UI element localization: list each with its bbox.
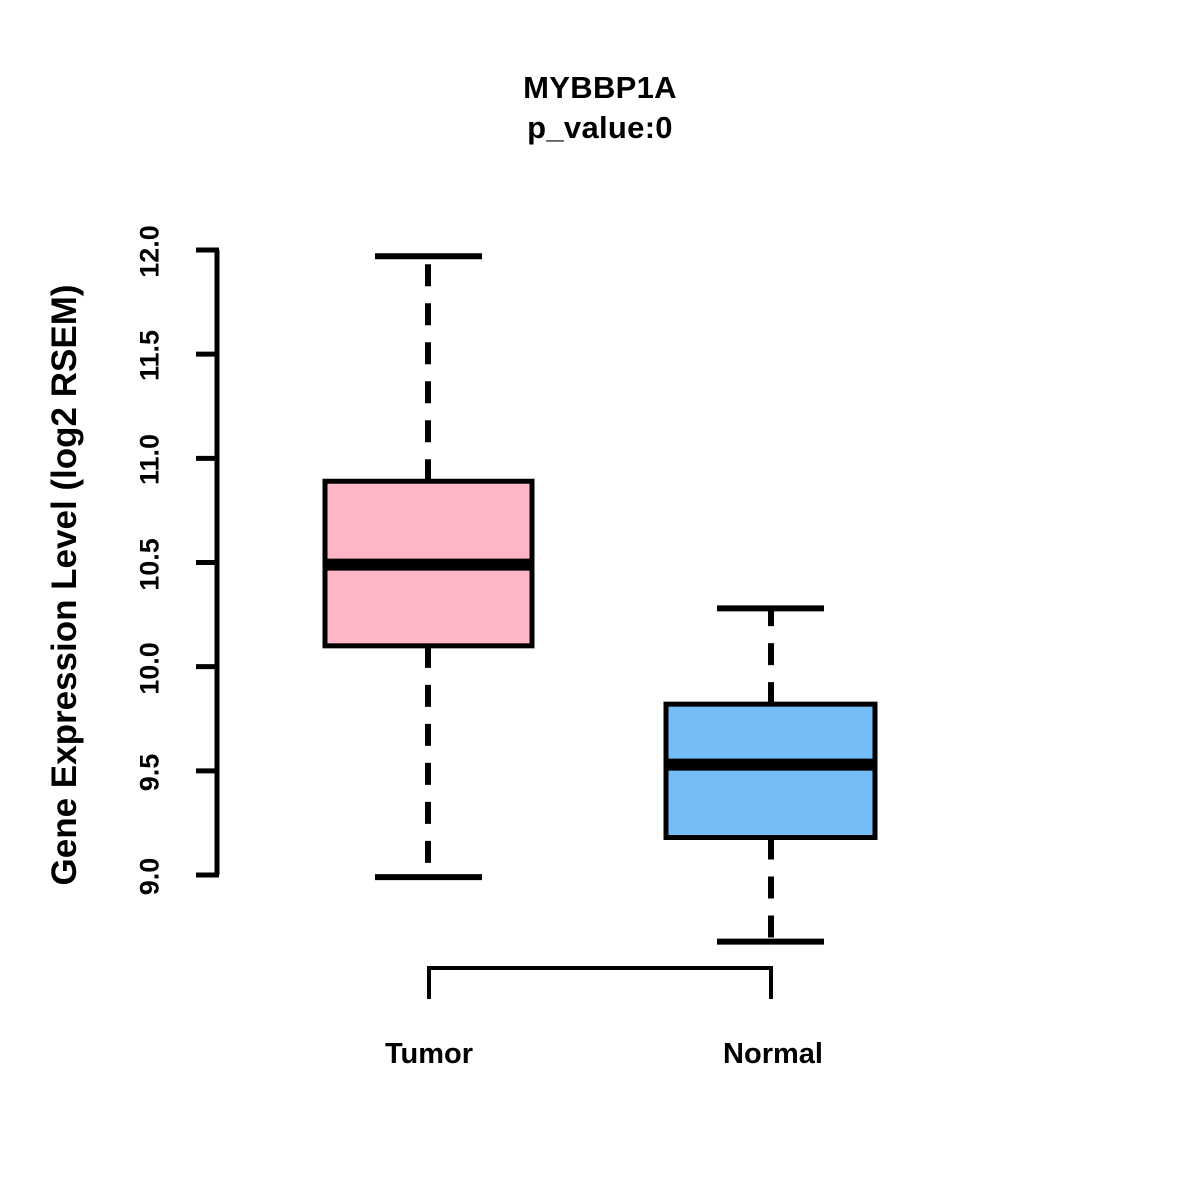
box-tumor[interactable] — [325, 256, 532, 877]
boxplot-figure: MYBBP1A p_value:0 Gene Expression Level … — [0, 0, 1200, 1200]
y-axis — [196, 250, 219, 875]
normal-box-rect — [666, 704, 875, 837]
box-normal[interactable] — [666, 608, 875, 941]
x-axis — [428, 966, 772, 999]
plot-canvas — [0, 0, 1200, 1200]
